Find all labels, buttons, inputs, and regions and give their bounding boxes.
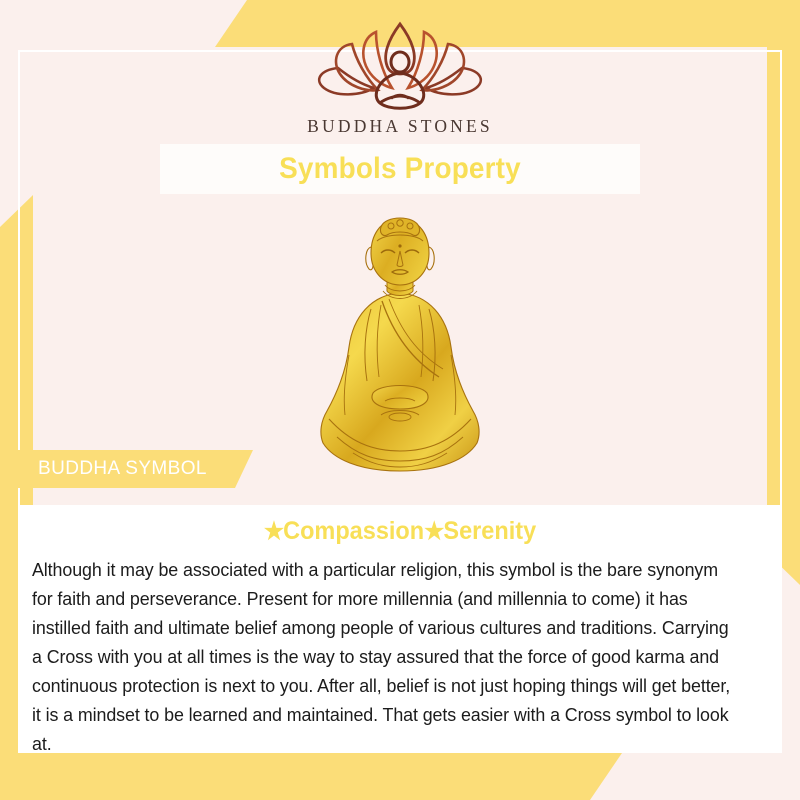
golden-seated-buddha-statue-icon (319, 205, 481, 495)
star-icon-1: ★ (264, 518, 283, 545)
content-paragraph: Although it may be associated with a par… (32, 546, 742, 758)
subtitle-word-compassion: Compassion (283, 517, 424, 545)
brand-name: BUDDHA STONES (0, 116, 800, 137)
star-icon-2: ★ (424, 518, 443, 545)
title-banner: Symbols Property (160, 144, 640, 194)
subtitle-word-serenity: Serenity (443, 517, 536, 545)
brand-lockup: BUDDHA STONES (0, 18, 800, 137)
decorative-band-bottom (0, 753, 622, 800)
section-ribbon: BUDDHA SYMBOL (18, 450, 253, 488)
infographic-page: BUDDHA STONES Symbols Property (0, 0, 800, 800)
content-subtitle: ★Compassion★Serenity (54, 505, 746, 546)
page-title: Symbols Property (279, 152, 521, 186)
section-ribbon-label: BUDDHA SYMBOL (18, 458, 207, 480)
content-card: ★Compassion★Serenity Although it may be … (18, 505, 782, 753)
lotus-meditation-icon (0, 18, 800, 114)
